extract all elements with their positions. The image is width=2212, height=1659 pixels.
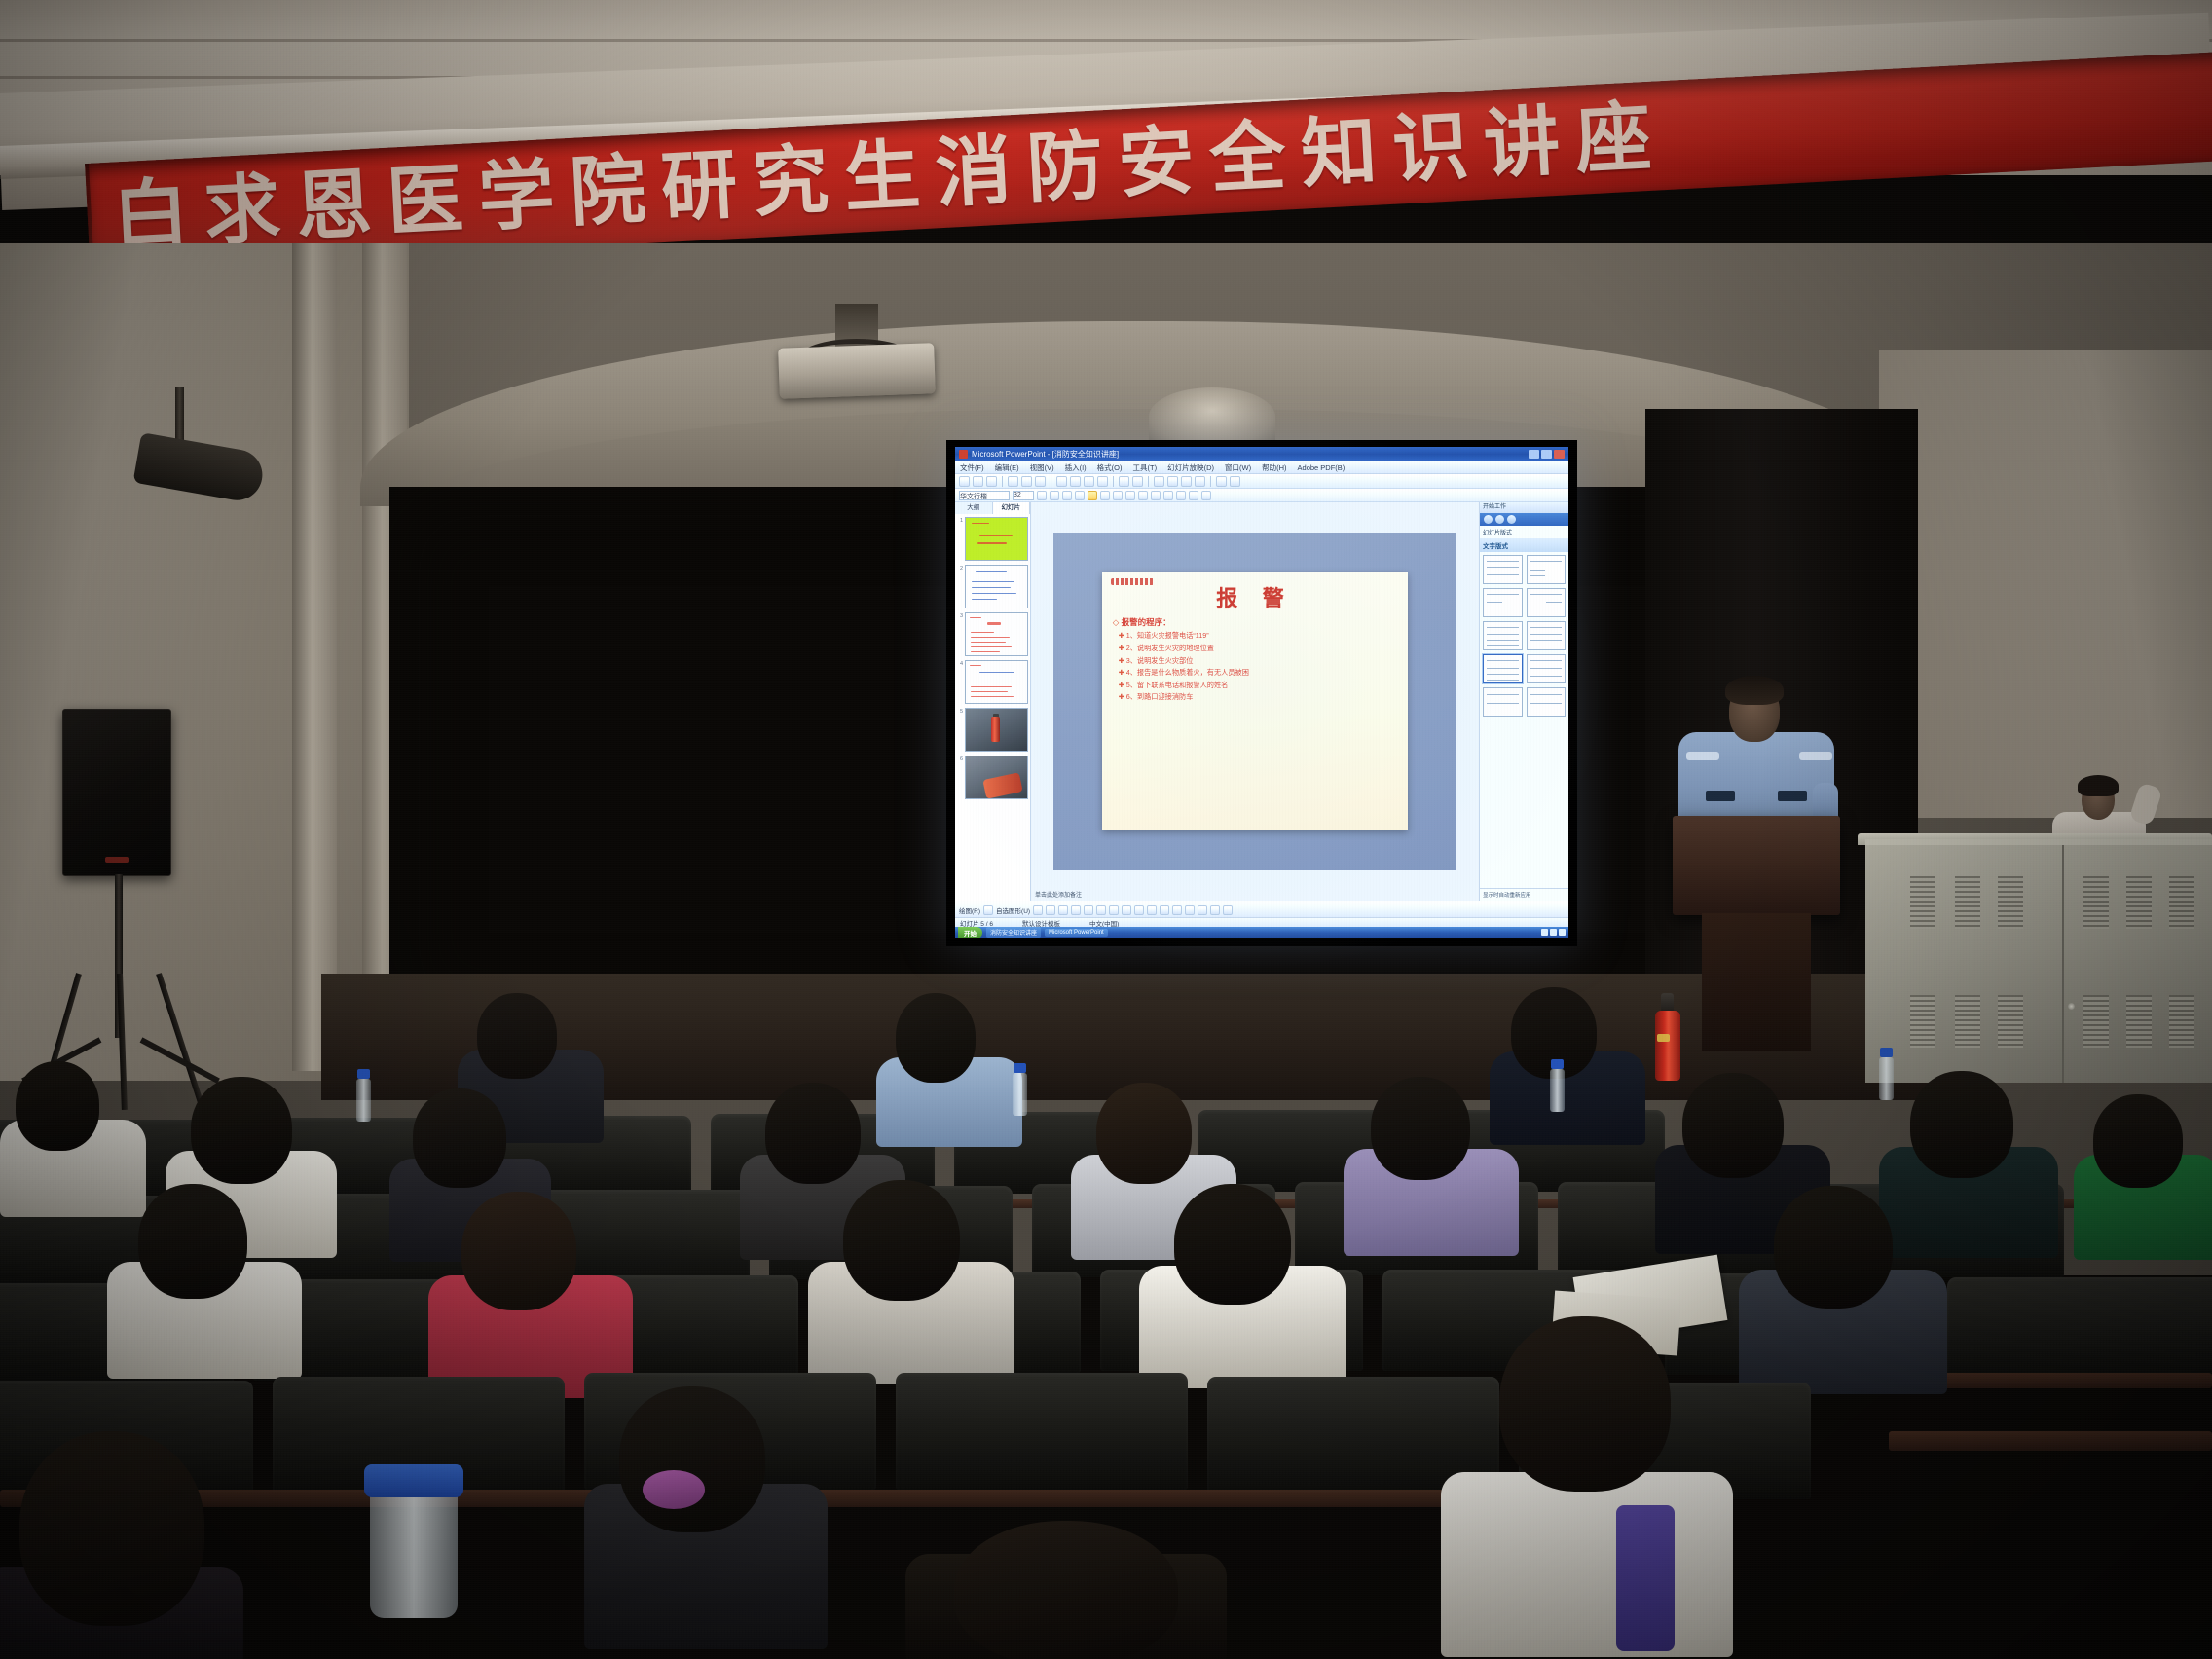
slide-bullet: ✚ 5、留下联系电话和报警人的姓名 xyxy=(1119,681,1400,690)
slide-paper-background: 报 警 ◇ 报警的程序： ✚ 1、知道火灾报警电话“119” ✚ 2、说明发生火… xyxy=(1102,572,1409,829)
slide-bullet: ✚ 4、报告是什么物质着火，有无人员被困 xyxy=(1119,668,1400,678)
menu-item-help[interactable]: 帮助(H) xyxy=(1262,462,1286,473)
audience-head xyxy=(843,1180,960,1301)
copy-icon[interactable] xyxy=(1070,476,1081,487)
cabinet-vent xyxy=(2169,995,2194,1048)
increase-font-icon[interactable] xyxy=(1163,491,1173,500)
align-left-icon[interactable] xyxy=(1100,491,1110,500)
paste-icon[interactable] xyxy=(1084,476,1094,487)
clock-icon[interactable] xyxy=(1559,929,1566,936)
shadow-style-icon[interactable] xyxy=(1210,905,1220,915)
slides-pane-tabs[interactable]: 大纲 幻灯片 xyxy=(955,502,1030,514)
slide-number: 4 xyxy=(957,660,963,667)
back-icon[interactable] xyxy=(1484,515,1493,524)
slide-thumbnail[interactable]: 1 xyxy=(957,517,1028,561)
align-center-icon[interactable] xyxy=(1113,491,1123,500)
spellcheck-icon[interactable] xyxy=(1035,476,1046,487)
line-icon[interactable] xyxy=(1033,905,1043,915)
audience-head xyxy=(896,993,976,1083)
water-bottle xyxy=(356,1079,371,1122)
cabinet-vent xyxy=(2083,876,2109,929)
bold-icon[interactable] xyxy=(1037,491,1047,500)
toolbar-separator xyxy=(1051,476,1051,487)
water-bottle xyxy=(1013,1073,1027,1116)
formatting-toolbar[interactable]: 华文行楷 32 xyxy=(955,489,1568,502)
network-icon[interactable] xyxy=(1550,929,1557,936)
slide-thumbnail-image[interactable] xyxy=(965,708,1028,752)
forward-icon[interactable] xyxy=(1495,515,1504,524)
audience-head xyxy=(1499,1316,1671,1492)
layout-option[interactable] xyxy=(1527,588,1567,617)
menu-item-insert[interactable]: 插入(I) xyxy=(1065,462,1087,473)
align-right-icon[interactable] xyxy=(1125,491,1135,500)
slide-number: 1 xyxy=(957,517,963,524)
slide-bullet-text: 4、报告是什么物质着火，有无人员被困 xyxy=(1126,668,1249,677)
layout-gallery[interactable] xyxy=(1480,552,1568,888)
audience-head xyxy=(1774,1186,1893,1309)
powerpoint-title-bar: Microsoft PowerPoint - [消防安全知识讲座] xyxy=(955,447,1568,461)
slide-thumbnail-image[interactable] xyxy=(965,565,1028,608)
open-icon[interactable] xyxy=(973,476,983,487)
audience-head xyxy=(138,1184,247,1299)
line-style-icon[interactable] xyxy=(1185,905,1195,915)
slide-bullet-text: 3、说明发生火灾部位 xyxy=(1126,656,1194,665)
arrow-icon[interactable] xyxy=(1046,905,1055,915)
slide-number: 3 xyxy=(957,612,963,619)
save-icon[interactable] xyxy=(986,476,997,487)
layout-option[interactable] xyxy=(1527,687,1567,717)
draw-menu-label[interactable]: 绘图(R) xyxy=(959,905,980,915)
audience-head xyxy=(1096,1083,1192,1184)
slide-number: 5 xyxy=(957,708,963,715)
slide-bullet: ✚ 2、说明发生火灾的地理位置 xyxy=(1119,644,1400,653)
water-bottle xyxy=(1550,1069,1565,1112)
notes-pane[interactable]: 单击此处添加备注 xyxy=(1031,889,1479,901)
new-slide-icon[interactable] xyxy=(1195,476,1205,487)
cabinet-vent xyxy=(1955,995,1980,1048)
slide-thumbnail-image[interactable] xyxy=(965,612,1028,656)
fire-extinguisher-label xyxy=(1657,1034,1670,1042)
slide-thumbnail[interactable]: 2 xyxy=(957,565,1028,608)
redo-icon[interactable] xyxy=(1132,476,1143,487)
audience-head xyxy=(477,993,557,1079)
insert-picture-icon[interactable] xyxy=(1181,476,1192,487)
cabinet-vent xyxy=(1998,995,2023,1048)
slide-heading: 报 警 xyxy=(1111,588,1400,609)
seat-row-rail xyxy=(1889,1431,2212,1451)
water-bottle xyxy=(1879,1057,1894,1100)
insert-table-icon[interactable] xyxy=(1154,476,1164,487)
slide-bullet: ✚ 1、知道火灾报警电话“119” xyxy=(1119,631,1400,641)
slide-number: 2 xyxy=(957,565,963,571)
right-wall xyxy=(1879,350,2212,818)
arch-medallion xyxy=(1149,387,1275,446)
auditorium-photo: 白求恩医学院研究生消防安全知识讲座 Microsoft PowerPoint -… xyxy=(0,0,2212,1659)
layout-option-selected[interactable] xyxy=(1483,654,1523,683)
cabinet-vent xyxy=(2169,876,2194,929)
fire-extinguisher-nozzle xyxy=(1661,993,1674,1013)
menu-item-adobe-pdf[interactable]: Adobe PDF(B) xyxy=(1298,463,1346,472)
pa-speaker xyxy=(62,709,171,876)
water-bottle-cap xyxy=(1551,1059,1564,1069)
cabinet-vent xyxy=(1998,876,2023,929)
windows-taskbar[interactable]: 开始 消防安全知识讲座 Microsoft PowerPoint xyxy=(955,927,1568,938)
toolbar-separator xyxy=(1113,476,1114,487)
slide-bullet: ✚ 6、到路口迎接消防车 xyxy=(1119,692,1400,702)
slide-editing-area[interactable]: 报 警 ◇ 报警的程序： ✚ 1、知道火灾报警电话“119” ✚ 2、说明发生火… xyxy=(1031,502,1479,901)
slide-thumbnail[interactable]: 4 xyxy=(957,660,1028,704)
help-icon[interactable] xyxy=(1230,476,1240,487)
audience-head xyxy=(413,1088,506,1188)
water-bottle-cap xyxy=(1014,1063,1026,1073)
epaulette-right xyxy=(1799,752,1832,760)
dash-style-icon[interactable] xyxy=(1198,905,1207,915)
audience-head xyxy=(19,1431,204,1626)
task-pane-header: 开始工作 xyxy=(1480,502,1568,513)
autoshapes-label[interactable]: 自选图形(U) xyxy=(996,905,1030,915)
slide-thumbnail[interactable]: 3 xyxy=(957,612,1028,656)
audience-head xyxy=(1910,1071,2013,1178)
slides-pane[interactable]: 大纲 幻灯片 1 2 xyxy=(955,502,1031,901)
tab-slides[interactable]: 幻灯片 xyxy=(993,502,1031,514)
cabinet-vent xyxy=(2126,876,2152,929)
system-tray[interactable] xyxy=(1541,929,1566,936)
close-icon[interactable] xyxy=(1554,450,1565,459)
menu-bar[interactable]: 文件(F) 编辑(E) 视图(V) 插入(I) 格式(O) 工具(T) 幻灯片放… xyxy=(955,461,1568,474)
auditorium-seat xyxy=(896,1373,1188,1490)
picture-icon[interactable] xyxy=(1134,905,1144,915)
window-controls[interactable] xyxy=(1529,450,1565,459)
menu-item-slideshow[interactable]: 幻灯片放映(D) xyxy=(1167,462,1214,473)
task-pane-title: 幻灯片版式 xyxy=(1480,526,1568,538)
design-icon[interactable] xyxy=(1201,491,1211,500)
pilaster xyxy=(292,243,337,1071)
rectangle-icon[interactable] xyxy=(1058,905,1068,915)
font-color-icon[interactable] xyxy=(1189,491,1198,500)
slide-bullet-text: 6、到路口迎接消防车 xyxy=(1126,692,1194,701)
left-wall xyxy=(0,243,409,1081)
ceiling-projector xyxy=(778,343,936,399)
menu-item-file[interactable]: 文件(F) xyxy=(960,462,984,473)
slide-thumbnail-image[interactable] xyxy=(965,756,1028,799)
insert-chart-icon[interactable] xyxy=(1167,476,1178,487)
projection-screen: Microsoft PowerPoint - [消防安全知识讲座] 文件(F) … xyxy=(946,440,1577,946)
water-bottle-cap xyxy=(1880,1048,1893,1057)
podium xyxy=(1673,816,1840,915)
taskbar-item[interactable]: 消防安全知识讲座 xyxy=(986,927,1041,938)
textbox-icon[interactable] xyxy=(1084,905,1093,915)
audience-head xyxy=(461,1192,576,1310)
audience-head xyxy=(1371,1077,1470,1180)
taskbar-item[interactable]: Microsoft PowerPoint xyxy=(1045,929,1108,937)
slide-bullet-text: 1、知道火灾报警电话“119” xyxy=(1126,631,1209,640)
powerpoint-workspace: 大纲 幻灯片 1 2 xyxy=(955,502,1568,901)
water-cup-lid xyxy=(364,1464,463,1497)
slide-thumbnail-image[interactable] xyxy=(965,660,1028,704)
layout-option[interactable] xyxy=(1527,654,1567,683)
menu-item-window[interactable]: 窗口(W) xyxy=(1225,462,1251,473)
layout-option[interactable] xyxy=(1527,555,1567,584)
shoulder-bag-strap xyxy=(1616,1505,1675,1651)
diagram-icon[interactable] xyxy=(1109,905,1119,915)
shadow-icon[interactable] xyxy=(1075,491,1085,500)
undo-icon[interactable] xyxy=(1119,476,1129,487)
select-arrow-icon[interactable] xyxy=(983,905,993,915)
uniform-nameplate xyxy=(1778,791,1807,801)
highlight-icon[interactable] xyxy=(1088,491,1097,500)
layout-option[interactable] xyxy=(1527,621,1567,650)
minimize-icon[interactable] xyxy=(1529,450,1539,459)
fill-color-icon[interactable] xyxy=(1147,905,1157,915)
audience-torso xyxy=(1441,1472,1733,1657)
uniform-badge-left xyxy=(1706,791,1735,801)
zoom-icon[interactable] xyxy=(1216,476,1227,487)
audience-head xyxy=(191,1077,292,1184)
layout-option[interactable] xyxy=(1483,555,1523,584)
toolbar-separator xyxy=(1210,476,1211,487)
audience-head xyxy=(954,1521,1178,1659)
task-pane-nav[interactable] xyxy=(1480,513,1568,526)
audience-head xyxy=(2093,1094,2183,1188)
audience-head xyxy=(765,1083,861,1184)
audience-head xyxy=(1174,1184,1291,1305)
cabinet-vent xyxy=(1910,995,1935,1048)
standard-toolbar[interactable] xyxy=(955,474,1568,489)
current-slide[interactable]: 报 警 ◇ 报警的程序： ✚ 1、知道火灾报警电话“119” ✚ 2、说明发生火… xyxy=(1053,533,1456,871)
slide-bullet-text: 2、说明发生火灾的地理位置 xyxy=(1126,644,1214,652)
fire-extinguisher xyxy=(1655,1011,1680,1081)
task-pane-section: 文字版式 xyxy=(1480,538,1568,552)
cabinet-door-gap[interactable] xyxy=(2062,845,2064,1083)
menu-item-tools[interactable]: 工具(T) xyxy=(1133,462,1158,473)
rear-seated-person-hair xyxy=(2078,775,2119,796)
format-painter-icon[interactable] xyxy=(1097,476,1108,487)
volume-icon[interactable] xyxy=(1541,929,1548,936)
toolbar-separator xyxy=(1002,476,1003,487)
cabinet-vent xyxy=(2083,995,2109,1048)
new-icon[interactable] xyxy=(959,476,970,487)
wordart-icon[interactable] xyxy=(1096,905,1106,915)
window-title: Microsoft PowerPoint - [消防安全知识讲座] xyxy=(972,449,1119,460)
start-button[interactable]: 开始 xyxy=(958,927,982,939)
decrease-font-icon[interactable] xyxy=(1176,491,1186,500)
bullets-icon[interactable] xyxy=(1138,491,1148,500)
podium-base xyxy=(1702,913,1811,1051)
audience-head xyxy=(16,1061,99,1151)
water-bottle-cap xyxy=(357,1069,370,1079)
font-name-box[interactable]: 华文行楷 xyxy=(959,491,1010,500)
auditorium-seat xyxy=(1947,1277,2212,1379)
slide-thumbnail[interactable]: 5 xyxy=(957,708,1028,752)
layout-option[interactable] xyxy=(1483,588,1523,617)
slide-thumbnail[interactable]: 6 xyxy=(957,756,1028,799)
menu-item-format[interactable]: 格式(O) xyxy=(1097,462,1123,473)
home-icon[interactable] xyxy=(1507,515,1516,524)
slide-subheading-text: 报警的程序： xyxy=(1122,617,1171,627)
cabinet-vent xyxy=(2126,995,2152,1048)
menu-item-edit[interactable]: 编辑(E) xyxy=(995,462,1019,473)
cabinet-lock-icon[interactable] xyxy=(2068,1003,2075,1010)
epaulette-left xyxy=(1686,752,1719,760)
slide-bullet-text: 5、留下联系电话和报警人的姓名 xyxy=(1126,681,1229,689)
powerpoint-app-icon xyxy=(959,450,968,459)
layout-option[interactable] xyxy=(1483,621,1523,650)
hair-tie xyxy=(643,1470,705,1509)
cabinet-vent xyxy=(1910,876,1935,929)
slide-thumbnail-image[interactable] xyxy=(965,517,1028,561)
slide-bullet: ✚ 3、说明发生火灾部位 xyxy=(1119,656,1400,666)
drawing-toolbar[interactable]: 绘图(R) 自选图形(U) xyxy=(955,903,1568,917)
slide-number: 6 xyxy=(957,756,963,762)
menu-item-view[interactable]: 视图(V) xyxy=(1030,462,1054,473)
numbering-icon[interactable] xyxy=(1151,491,1161,500)
maximize-icon[interactable] xyxy=(1541,450,1552,459)
tab-outline[interactable]: 大纲 xyxy=(955,502,993,514)
pa-speaker-logo xyxy=(105,857,129,863)
font-color-icon[interactable] xyxy=(1172,905,1182,915)
slide-decoration-stamp xyxy=(1111,578,1154,585)
slide-thumbnail-list[interactable]: 1 2 xyxy=(955,514,1030,901)
clipart-icon[interactable] xyxy=(1122,905,1131,915)
3d-style-icon[interactable] xyxy=(1223,905,1233,915)
oval-icon[interactable] xyxy=(1071,905,1081,915)
audience-head xyxy=(619,1386,765,1532)
cut-icon[interactable] xyxy=(1056,476,1067,487)
print-preview-icon[interactable] xyxy=(1021,476,1032,487)
italic-icon[interactable] xyxy=(1050,491,1059,500)
toolbar-separator xyxy=(1148,476,1149,487)
font-size-box[interactable]: 32 xyxy=(1013,491,1034,500)
underline-icon[interactable] xyxy=(1062,491,1072,500)
layout-option[interactable] xyxy=(1483,687,1523,717)
audience-head xyxy=(1682,1073,1784,1178)
slide-subheading: ◇ 报警的程序： xyxy=(1113,616,1400,628)
cabinet-vent xyxy=(1955,876,1980,929)
task-pane[interactable]: 开始工作 幻灯片版式 文字版式 xyxy=(1479,502,1568,901)
line-color-icon[interactable] xyxy=(1160,905,1169,915)
powerpoint-window: Microsoft PowerPoint - [消防安全知识讲座] 文件(F) … xyxy=(955,447,1568,938)
print-icon[interactable] xyxy=(1008,476,1018,487)
task-pane-footer[interactable]: 显示时自动重新应用 xyxy=(1480,888,1568,901)
presenter-hair xyxy=(1725,676,1784,705)
